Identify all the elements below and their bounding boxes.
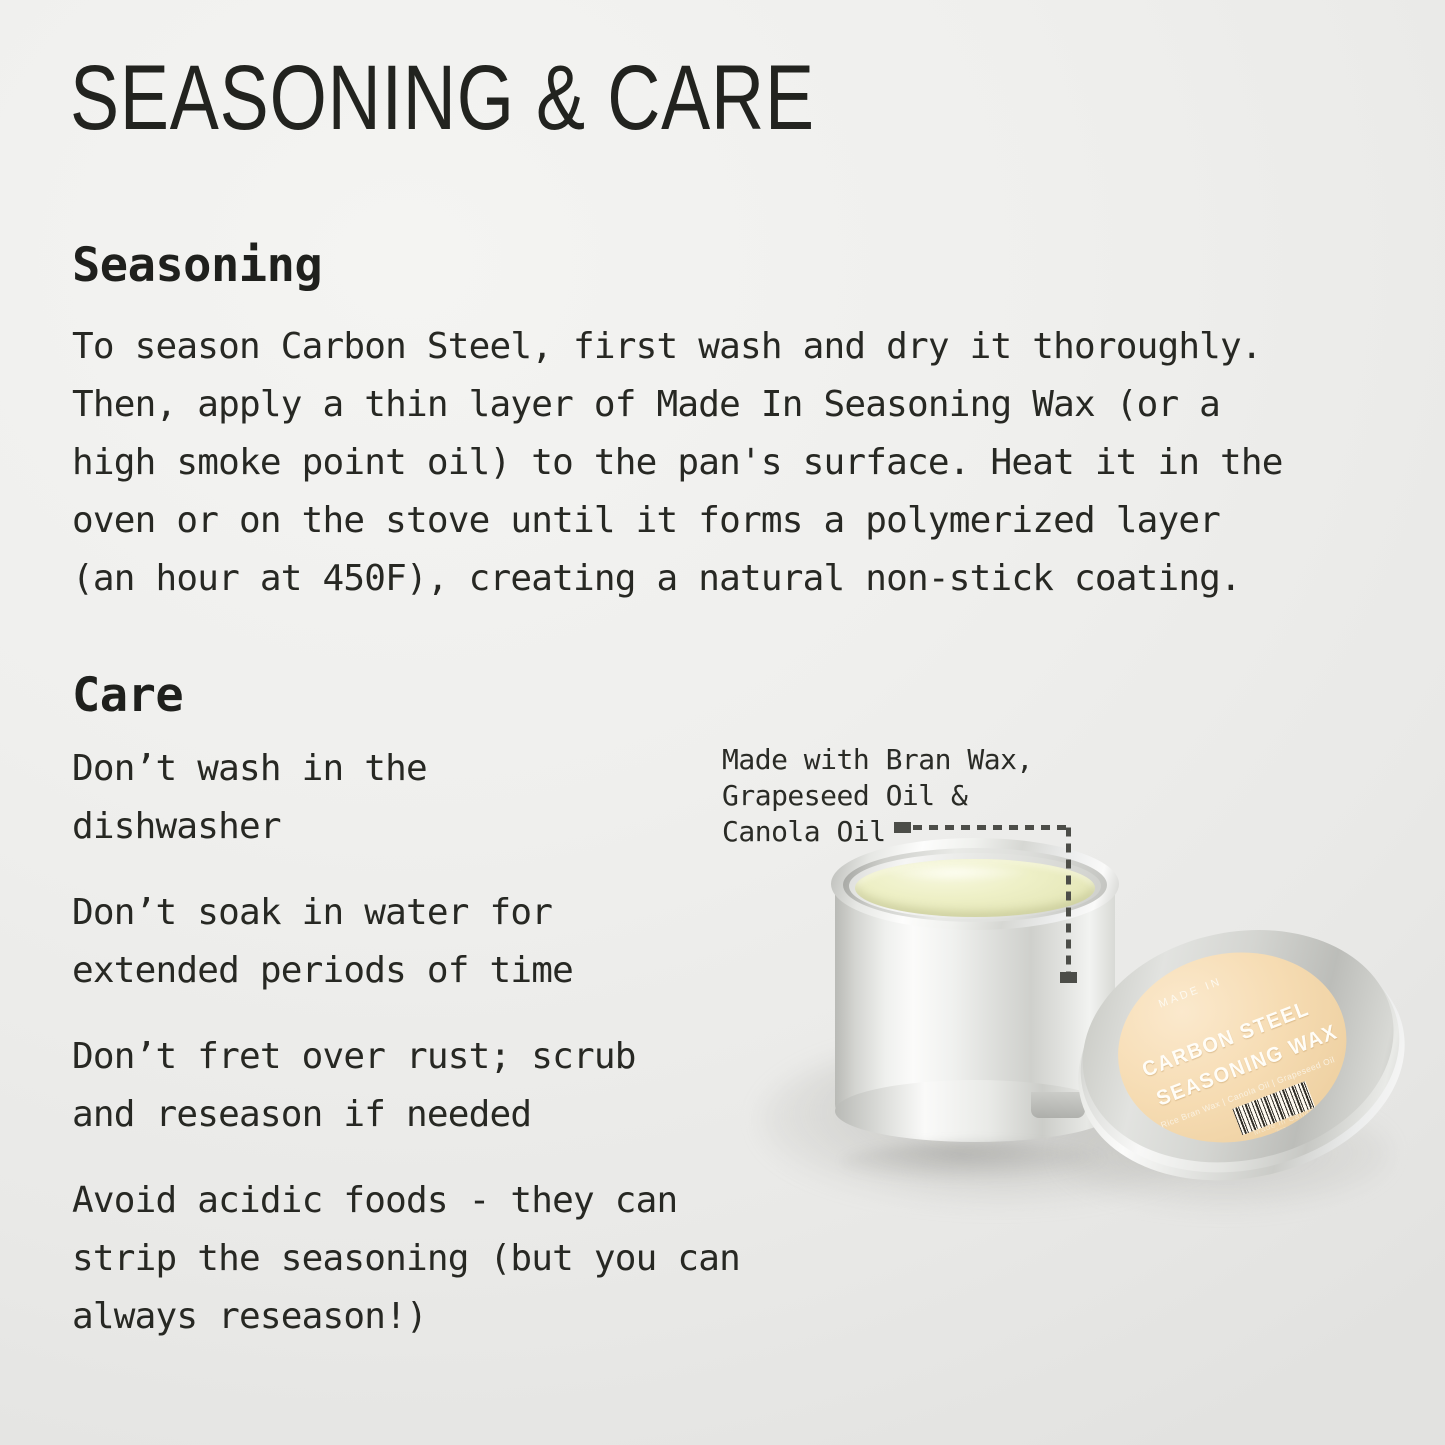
- care-line: Don’t fret over rust; scrub: [72, 1028, 636, 1086]
- care-line: Avoid acidic foods - they can: [72, 1172, 740, 1230]
- tin-seam-notch: [1031, 1092, 1085, 1118]
- care-line: dishwasher: [72, 798, 427, 856]
- care-line: Don’t soak in water for: [72, 884, 573, 942]
- wax-specular-highlight: [881, 862, 1031, 882]
- ingredient-callout-text: Made with Bran Wax, Grapeseed Oil & Cano…: [722, 742, 1033, 850]
- seasoning-line: oven or on the stove until it forms a po…: [72, 492, 1372, 550]
- seasoning-body-text: To season Carbon Steel, first wash and d…: [72, 318, 1372, 608]
- care-line: always reseason!): [72, 1288, 740, 1346]
- page-title: SEASONING & CARE: [70, 52, 815, 144]
- section-heading-care: Care: [72, 668, 183, 723]
- infographic-page: SEASONING & CARE Seasoning To season Car…: [0, 0, 1445, 1445]
- callout-line: Made with Bran Wax,: [722, 742, 1033, 778]
- care-list-item: Don’t fret over rust; scrub and reseason…: [72, 1028, 636, 1144]
- care-list-item: Avoid acidic foods - they can strip the …: [72, 1172, 740, 1346]
- seasoning-line: To season Carbon Steel, first wash and d…: [72, 318, 1372, 376]
- care-list-item: Don’t wash in the dishwasher: [72, 740, 427, 856]
- seasoning-line: Then, apply a thin layer of Made In Seas…: [72, 376, 1372, 434]
- care-line: Don’t wash in the: [72, 740, 427, 798]
- section-heading-seasoning: Seasoning: [72, 238, 322, 293]
- care-line: and reseason if needed: [72, 1086, 636, 1144]
- care-line: extended periods of time: [72, 942, 573, 1000]
- seasoning-line: (an hour at 450F), creating a natural no…: [72, 550, 1372, 608]
- product-photo-seasoning-wax-tin: MADE IN CARBON STEEL SEASONING WAX Rice …: [740, 830, 1420, 1250]
- seasoning-line: high smoke point oil) to the pan's surfa…: [72, 434, 1372, 492]
- callout-line: Canola Oil: [722, 814, 1033, 850]
- care-list-item: Don’t soak in water for extended periods…: [72, 884, 573, 1000]
- callout-line: Grapeseed Oil &: [722, 778, 1033, 814]
- tin-base-shading: [841, 1142, 1109, 1182]
- label-brand: MADE IN: [1157, 975, 1224, 1010]
- care-line: strip the seasoning (but you can: [72, 1230, 740, 1288]
